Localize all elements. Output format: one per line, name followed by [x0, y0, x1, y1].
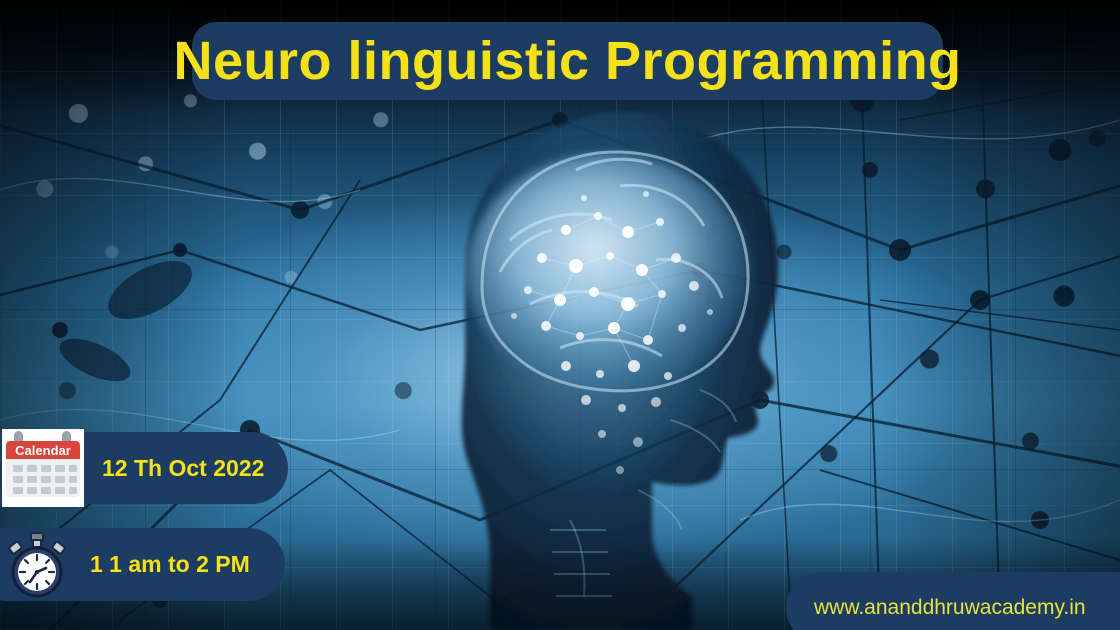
website-url-text[interactable]: www.ananddhruwacademy.in [814, 596, 1086, 620]
date-text: 12 Th Oct 2022 [102, 455, 264, 482]
stopwatch-icon [0, 532, 74, 598]
website-badge[interactable]: www.ananddhruwacademy.in [786, 572, 1120, 630]
title-banner: Neuro linguistic Programming [192, 22, 943, 100]
time-badge: 1 1 am to 2 PM [0, 528, 285, 601]
calendar-icon: Calendar [0, 429, 86, 507]
calendar-icon-label: Calendar [15, 443, 71, 458]
poster-canvas: Neuro linguistic Programming Calendar [0, 0, 1120, 630]
time-text: 1 1 am to 2 PM [90, 551, 250, 578]
page-title: Neuro linguistic Programming [173, 34, 961, 88]
date-badge: Calendar [0, 432, 288, 504]
